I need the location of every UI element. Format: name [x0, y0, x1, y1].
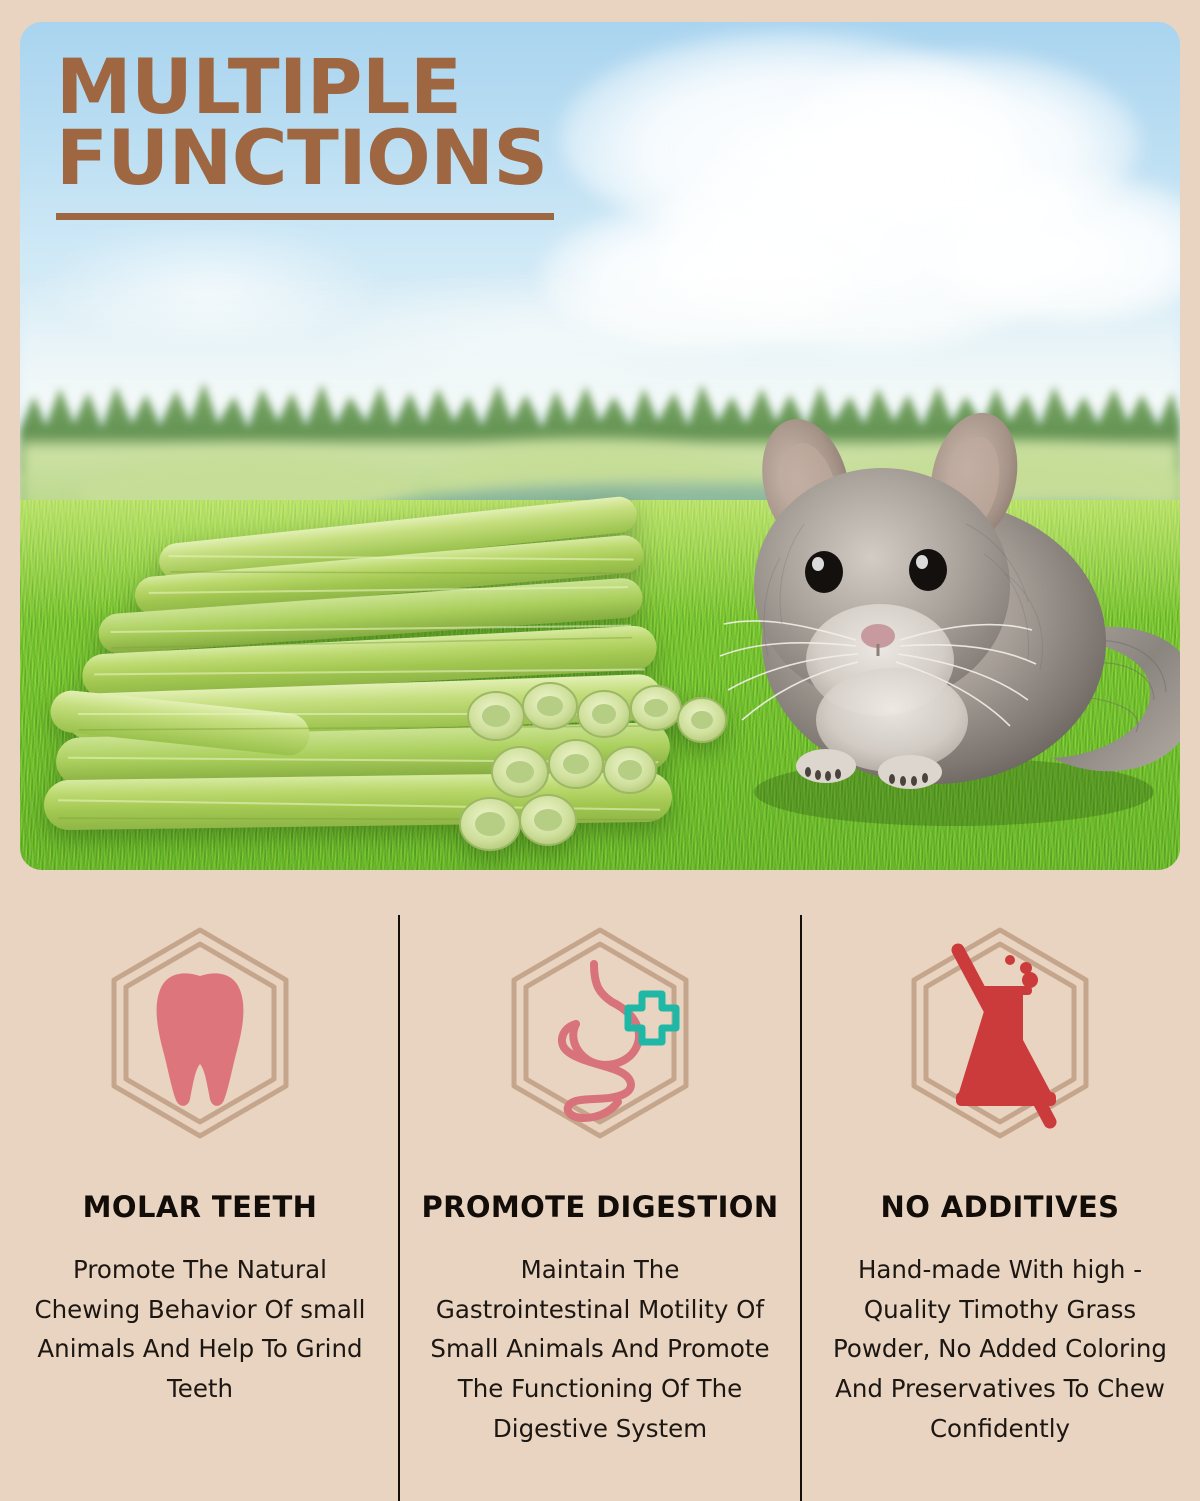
feature-title: PROMOTE DIGESTION	[421, 1190, 778, 1224]
feature-description: Promote The Natural Chewing Behavior Of …	[30, 1250, 370, 1409]
feature-description: Maintain The Gastrointestinal Motility O…	[430, 1250, 770, 1448]
headline-line-2: FUNCTIONS	[56, 123, 616, 194]
tooth-icon	[96, 924, 304, 1142]
feature-title: MOLAR TEETH	[83, 1190, 318, 1224]
features-section: MOLAR TEETH Promote The Natural Chewing …	[0, 892, 1200, 1500]
chinchilla-photo	[684, 374, 1180, 844]
feature-column-promote-digestion: PROMOTE DIGESTION Maintain The Gastroint…	[400, 892, 800, 1500]
grass-chew-sticks	[38, 484, 738, 870]
hero-photo-card: MULTIPLE FUNCTIONS	[20, 22, 1180, 870]
feature-description: Hand-made With high -Quality Timothy Gra…	[822, 1250, 1178, 1448]
page-title: MULTIPLE FUNCTIONS	[56, 52, 616, 193]
feature-title: NO ADDITIVES	[881, 1190, 1120, 1224]
feature-column-molar-teeth: MOLAR TEETH Promote The Natural Chewing …	[0, 892, 400, 1500]
feature-column-no-additives: NO ADDITIVES Hand-made With high -Qualit…	[800, 892, 1200, 1500]
stomach-digestion-icon	[496, 924, 704, 1142]
hero-headline: MULTIPLE FUNCTIONS	[56, 52, 616, 220]
headline-underline	[56, 213, 554, 220]
no-additives-flask-icon	[896, 924, 1104, 1142]
